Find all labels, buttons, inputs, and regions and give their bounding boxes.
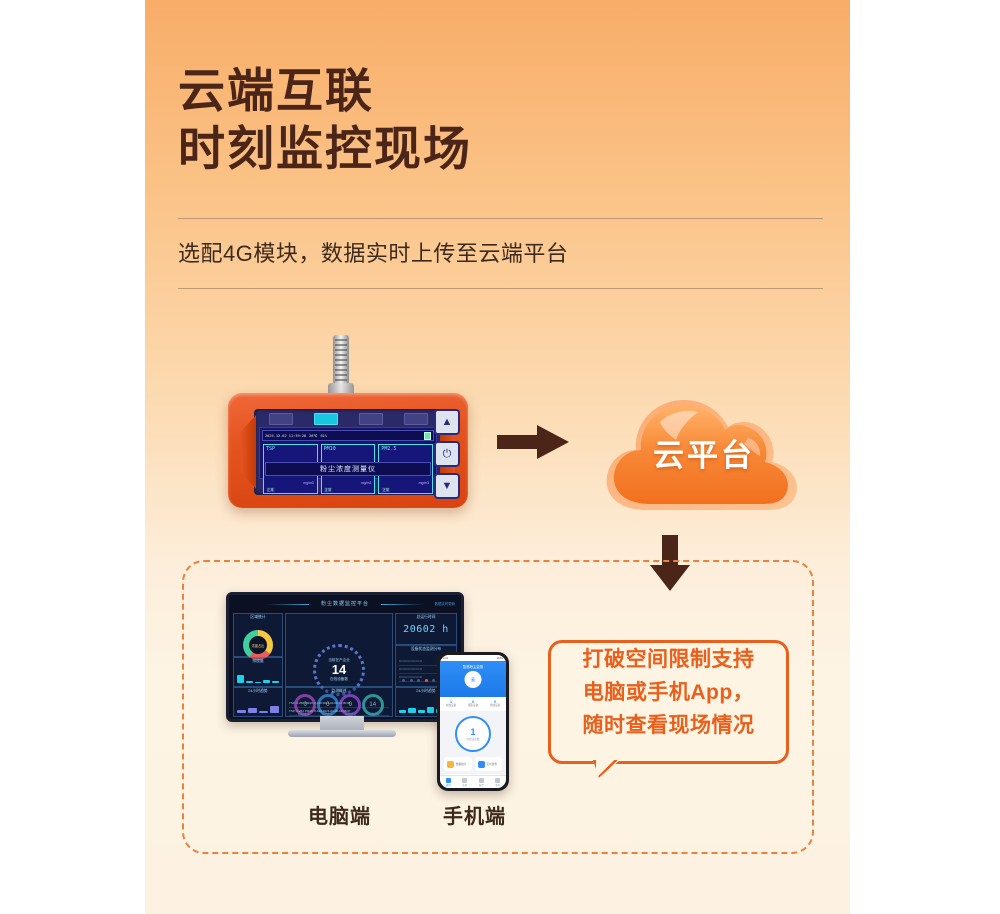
- phone-circle-label: 在线设备数: [467, 737, 480, 741]
- caption-mobile: 手机端: [443, 800, 506, 829]
- callout-line-1: 打破空间限制支持: [551, 643, 786, 676]
- phone-status-time: 9:41: [443, 657, 448, 660]
- down-button[interactable]: ▼: [434, 473, 460, 499]
- reading-unit: mg/m3: [361, 481, 371, 485]
- dashboard-corner-note: 数据实时更新: [435, 601, 455, 606]
- nav-item-profile[interactable]: 我的: [490, 776, 507, 788]
- phone-stat-row: 1 在线设备 0 报警设备 0 离线设备: [440, 697, 506, 711]
- nav-item-alarm[interactable]: 报警: [473, 776, 490, 788]
- device-tab-3[interactable]: [404, 413, 428, 425]
- phone-menu-tile[interactable]: 实时监测: [475, 757, 503, 771]
- dashboard-gauge-panel[interactable]: 当前在产企业 14 在线设备数 0 0 0 14 超标企业 停产企业 报警企业 …: [285, 613, 393, 687]
- gauge-sub-label: 在线设备数: [330, 677, 348, 682]
- reading-name: PM10: [324, 446, 336, 452]
- nav-label: 我的: [495, 784, 500, 787]
- tile-label: 实时监测: [487, 762, 497, 766]
- trend-mini-chart: [237, 702, 279, 713]
- divider-top: [178, 218, 823, 219]
- device-name-label: 粉尘浓度测量仪: [265, 462, 431, 476]
- device-screen: 2025-12-02 11:39:28 26℃ 61% TSP 0.258 mg…: [259, 427, 437, 479]
- mobile-phone: 9:41 100% 智慧粉尘监测 云 1 在线设备 0 报警设备 0 离线设备: [437, 652, 509, 791]
- phone-bottom-nav: 首页 监测 报警 我的: [440, 775, 506, 788]
- dust-meter-device: 2025-12-02 11:39:28 26℃ 61% TSP 0.258 mg…: [228, 335, 468, 510]
- device-bezel: 2025-12-02 11:39:28 26℃ 61% TSP 0.258 mg…: [254, 409, 442, 495]
- concentration-donut-chart: 浓度占比: [243, 630, 273, 660]
- device-temperature: 26℃: [309, 434, 317, 438]
- reading-status: 正常: [324, 487, 333, 492]
- phone-app-header: 智慧粉尘监测 云: [440, 661, 506, 697]
- reading-status: 正常: [266, 487, 275, 492]
- device-status-bar: 2025-12-02 11:39:28 26℃ 61%: [262, 430, 434, 441]
- headline-block: 云端互联 时刻监控现场: [178, 62, 818, 178]
- reading-name: PM2.5: [381, 446, 396, 452]
- dashboard-region-panel[interactable]: 区域统计 浓度占比: [233, 613, 283, 657]
- subtitle-text: 选配4G模块，数据实时上传至云端平台: [178, 236, 838, 268]
- headline-line-1: 云端互联: [178, 62, 818, 120]
- callout-line-3: 随时查看现场情况: [551, 709, 786, 742]
- panel-title: 监测概述: [286, 689, 392, 694]
- sensor-probe-icon: [333, 335, 349, 387]
- headline-line-2: 时刻监控现场: [178, 120, 818, 178]
- dashboard-alarm-panel[interactable]: 监测概述 TSP: 0.258 PM10: 0.119 2021-03-09 1…: [285, 687, 393, 717]
- device-datetime: 2025-12-02 11:39:28: [265, 434, 306, 438]
- nav-item-monitor[interactable]: 监测: [457, 776, 474, 788]
- dashboard-trend-panel[interactable]: 24小时趋势: [233, 687, 283, 717]
- phone-stat-item[interactable]: 0 离线设备: [484, 700, 506, 708]
- reading-unit: mg/m3: [419, 481, 429, 485]
- callout-line-2: 电脑或手机App，: [551, 676, 786, 709]
- phone-status-battery: 100%: [496, 657, 503, 660]
- battery-icon: [424, 432, 431, 440]
- dashboard-screen: 粉尘数据监控平台 数据实时更新 区域统计 浓度占比 排放量 24小时趋势: [226, 592, 464, 722]
- callout-bubble: 打破空间限制支持 电脑或手机App， 随时查看现场情况: [548, 640, 789, 764]
- device-signal: 61%: [320, 434, 327, 438]
- pc-monitor: 粉尘数据监控平台 数据实时更新 区域统计 浓度占比 排放量 24小时趋势: [226, 592, 458, 740]
- monitor-base: [288, 730, 396, 737]
- phone-stat-label: 报警设备: [468, 704, 478, 707]
- cloud-platform-label: 云平台: [598, 430, 810, 475]
- bell-icon: [479, 778, 484, 783]
- nav-label: 报警: [479, 784, 484, 787]
- donut-label: 浓度占比: [252, 643, 265, 648]
- device-button-group: ▲ ⏻ ▼: [434, 409, 458, 505]
- phone-app-title: 智慧粉尘监测: [440, 664, 506, 669]
- product-marketing-page: 云端互联 时刻监控现场 选配4G模块，数据实时上传至云端平台 2025-12-0…: [0, 0, 1000, 914]
- total-hours-value: 20602 h: [396, 624, 456, 635]
- user-icon: [495, 778, 500, 783]
- monitor-icon: [462, 778, 467, 783]
- device-tab-1[interactable]: [314, 413, 338, 425]
- up-button[interactable]: ▲: [434, 409, 460, 435]
- phone-stat-label: 离线设备: [490, 704, 500, 707]
- panel-title: 24小时趋势: [234, 689, 282, 694]
- arrow-right-icon: [497, 425, 569, 459]
- app-logo-icon: 云: [465, 671, 482, 688]
- cloud-platform-graphic: 云平台: [598, 378, 810, 523]
- chart-icon: [447, 761, 454, 768]
- panel-title: 排放量: [234, 659, 282, 664]
- dashboard-hours-panel[interactable]: 总运行时间 20602 h: [395, 613, 457, 645]
- alarm-row: TSP: 0.258 PM10: 0.119 2021-03-09 14:39:…: [289, 700, 389, 708]
- caption-pc: 电脑端: [308, 800, 371, 829]
- reading-status: 正常: [381, 487, 390, 492]
- globe-icon: [478, 761, 485, 768]
- phone-circle-value: 1: [470, 728, 475, 737]
- device-tab-0[interactable]: [269, 413, 293, 425]
- tile-label: 数据统计: [456, 762, 466, 766]
- alarm-row-list: TSP: 0.258 PM10: 0.119 2021-03-09 14:39:…: [289, 700, 389, 716]
- reading-name: TSP: [266, 446, 275, 452]
- phone-stat-label: 在线设备: [446, 704, 456, 707]
- panel-title: 总运行时间: [396, 615, 456, 620]
- panel-title: 区域统计: [234, 615, 282, 620]
- divider-bottom: [178, 288, 823, 289]
- gauge-value: 14: [332, 663, 346, 677]
- dashboard-title: 粉尘数据监控平台: [229, 600, 461, 607]
- phone-screen: 9:41 100% 智慧粉尘监测 云 1 在线设备 0 报警设备 0 离线设备: [440, 655, 506, 788]
- alarm-row: TSP: 0.262 PM10: 0.124 2021-03-09 14:38:…: [289, 708, 389, 716]
- device-tab-strip: [258, 412, 438, 425]
- device-tab-2[interactable]: [359, 413, 383, 425]
- phone-online-circle[interactable]: 1 在线设备数: [455, 716, 491, 752]
- reading-unit: mg/m3: [303, 481, 313, 485]
- power-button[interactable]: ⏻: [434, 441, 460, 467]
- home-icon: [446, 778, 451, 783]
- emission-bar-chart: [237, 672, 279, 683]
- nav-item-home[interactable]: 首页: [440, 776, 457, 788]
- nav-label: 首页: [446, 784, 451, 787]
- nav-label: 监测: [462, 784, 467, 787]
- phone-stat-item[interactable]: 0 报警设备: [462, 700, 484, 708]
- dashboard-emission-panel[interactable]: 排放量: [233, 657, 283, 687]
- phone-menu-tile[interactable]: 数据统计: [444, 757, 472, 771]
- phone-stat-item[interactable]: 1 在线设备: [440, 700, 462, 708]
